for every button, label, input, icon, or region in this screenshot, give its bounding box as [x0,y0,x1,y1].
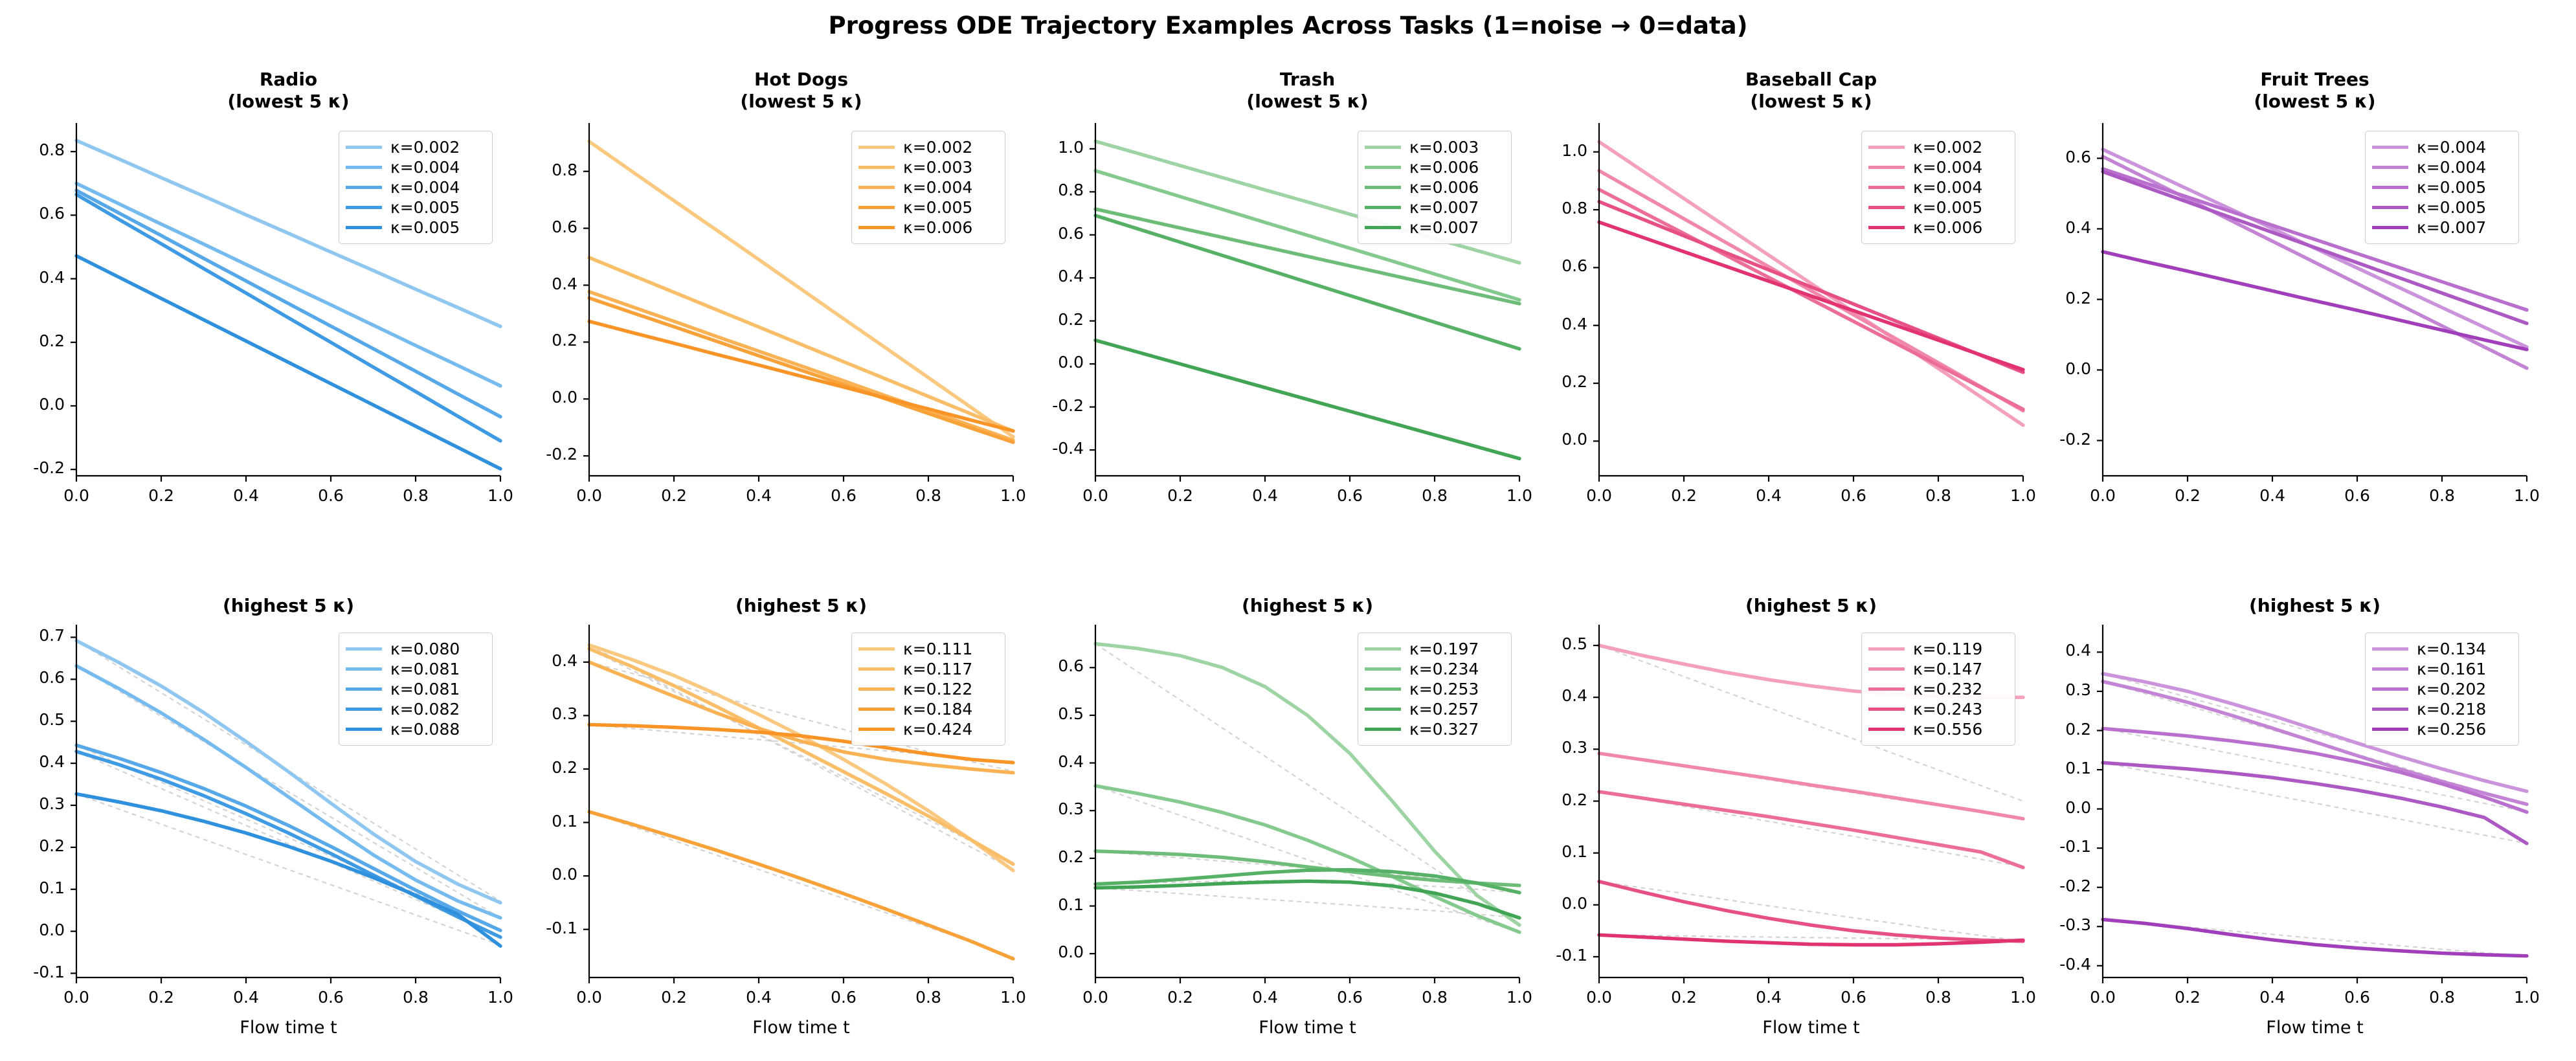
x-tick-label: 0.6 [2318,988,2396,1007]
subplot-title: (highest 5 κ) [2103,595,2527,617]
x-tick-label: 0.0 [2064,988,2142,1007]
x-tick-label: 0.2 [2149,988,2226,1007]
x-tick-label: 0.8 [2403,988,2481,1007]
legend-item[interactable]: κ=0.134 [2372,639,2511,659]
legend-label: κ=0.161 [2417,660,2486,678]
legend-item[interactable]: κ=0.161 [2372,659,2511,679]
y-tick-label: -0.4 [2007,955,2091,974]
subplot-title-line2: (highest 5 κ) [2103,595,2527,617]
subplot-fruit-trees-highest: (highest 5 κ)0.00.20.40.60.81.0-0.4-0.3-… [0,0,2576,1061]
figure-canvas: Progress ODE Trajectory Examples Across … [0,0,2576,1061]
legend-item[interactable]: κ=0.218 [2372,699,2511,719]
legend-label: κ=0.202 [2417,680,2486,698]
legend-label: κ=0.218 [2417,700,2486,719]
x-tick-label: 0.4 [2234,988,2311,1007]
legend-line-swatch [2372,687,2408,691]
y-tick-label: 0.0 [2007,798,2091,817]
y-tick-label: 0.3 [2007,680,2091,699]
y-tick-label: 0.1 [2007,759,2091,777]
x-axis-label: Flow time t [2103,1018,2527,1038]
y-tick-label: -0.3 [2007,915,2091,934]
legend-line-swatch [2372,708,2408,711]
y-tick-label: 0.4 [2007,641,2091,660]
y-tick-label: -0.1 [2007,837,2091,856]
legend-line-swatch [2372,667,2408,671]
legend-line-swatch [2372,647,2408,651]
legend-line-swatch [2372,728,2408,731]
legend-label: κ=0.256 [2417,720,2486,739]
legend[interactable]: κ=0.134κ=0.161κ=0.202κ=0.218κ=0.256 [2365,632,2519,746]
legend-item[interactable]: κ=0.256 [2372,719,2511,739]
legend-item[interactable]: κ=0.202 [2372,679,2511,699]
x-tick-label: 1.0 [2488,988,2566,1007]
y-tick-label: 0.2 [2007,720,2091,739]
legend-label: κ=0.134 [2417,640,2486,658]
y-tick-label: -0.2 [2007,877,2091,895]
